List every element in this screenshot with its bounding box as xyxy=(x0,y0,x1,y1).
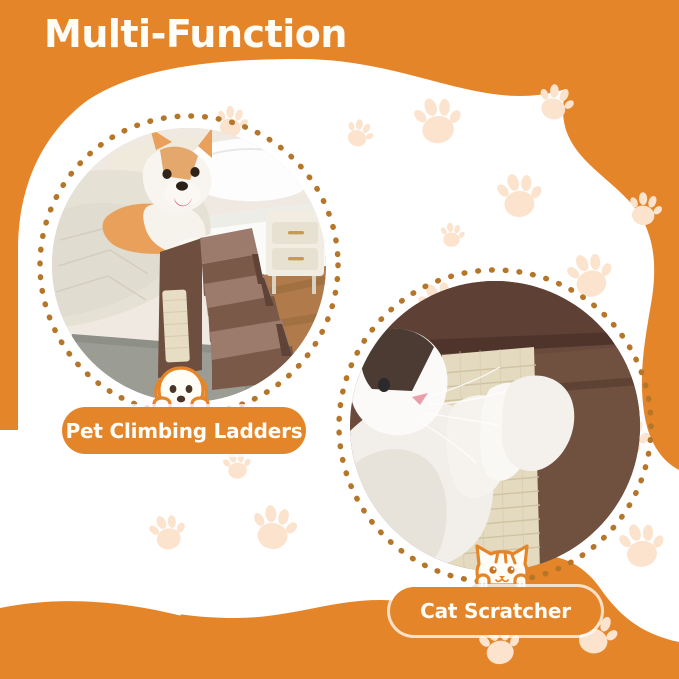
feature-badge-pet-climbing-ladders[interactable]: Pet Climbing Ladders xyxy=(62,407,306,454)
photo-disc-scratcher xyxy=(350,281,640,571)
feature-badge-label: Cat Scratcher xyxy=(420,599,571,623)
photo-disc-ladders xyxy=(52,128,326,402)
feature-badge-label: Pet Climbing Ladders xyxy=(66,419,303,443)
page-title: Multi-Function xyxy=(44,12,347,56)
product-feature-graphic: Multi-Function xyxy=(0,0,679,679)
feature-badge-cat-scratcher[interactable]: Cat Scratcher xyxy=(390,587,601,635)
feature-photo-cat-scratcher xyxy=(336,267,654,585)
